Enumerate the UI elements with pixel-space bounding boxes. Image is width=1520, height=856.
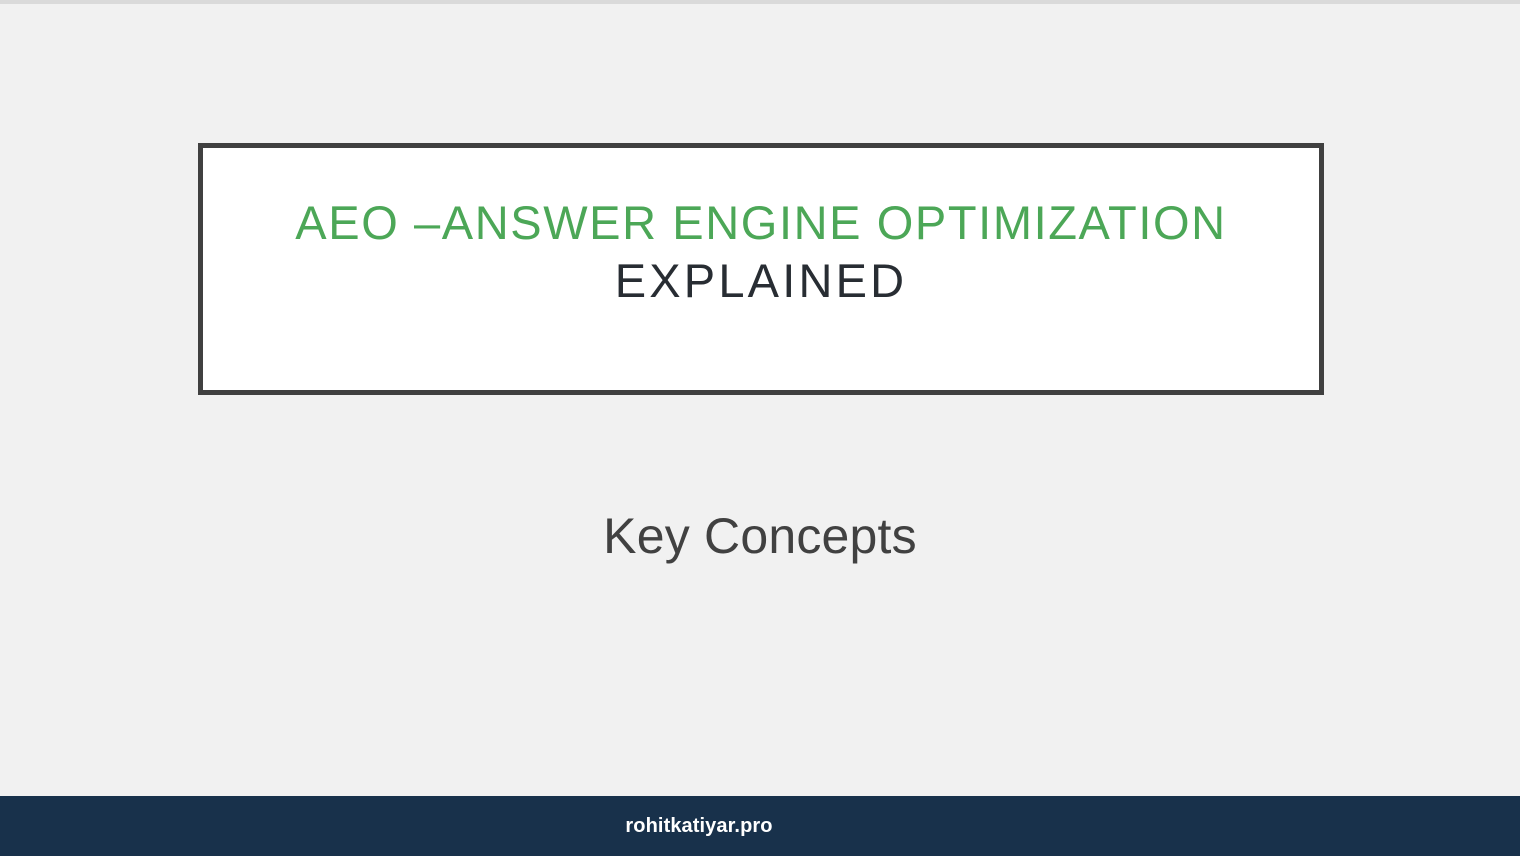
top-edge-strip (0, 0, 1520, 4)
title-card: AEO –ANSWER ENGINE OPTIMIZATION EXPLAINE… (198, 143, 1324, 395)
slide-title-primary: AEO –ANSWER ENGINE OPTIMIZATION (295, 196, 1226, 250)
presentation-slide: AEO –ANSWER ENGINE OPTIMIZATION EXPLAINE… (0, 0, 1520, 856)
slide-subtitle: Key Concepts (0, 506, 1520, 566)
footer-bar: rohitkatiyar.pro (0, 796, 1520, 856)
slide-title-secondary: EXPLAINED (615, 250, 908, 311)
footer-website-label: rohitkatiyar.pro (625, 815, 772, 838)
